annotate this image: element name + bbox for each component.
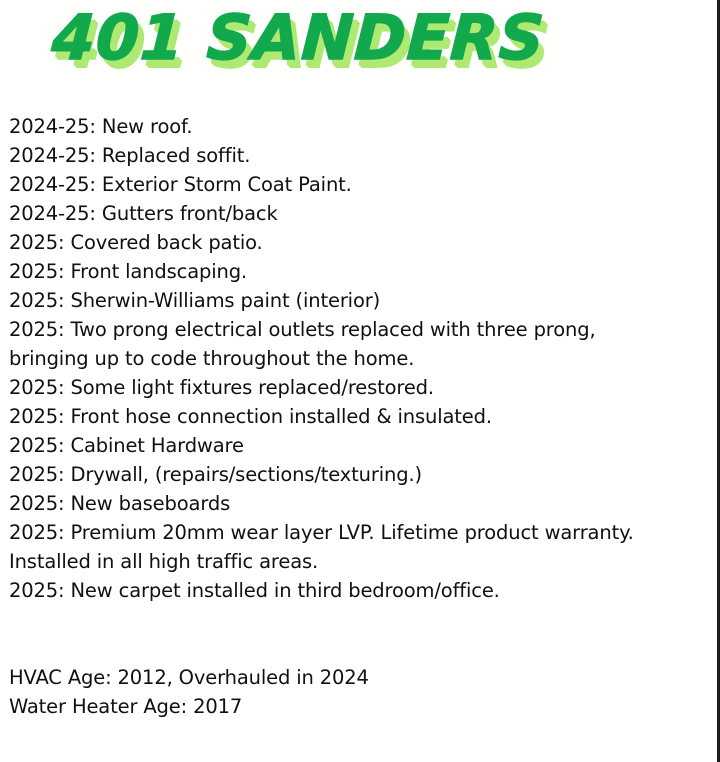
- property-improvements-flyer: 401 SANDERS 2024-25: New roof. 2024-25: …: [0, 0, 720, 762]
- list-item: 2024-25: Gutters front/back: [9, 199, 679, 228]
- list-item: 2024-25: New roof.: [9, 112, 679, 141]
- list-item: 2025: Premium 20mm wear layer LVP. Lifet…: [9, 518, 679, 576]
- list-item: 2025: New carpet installed in third bedr…: [9, 576, 679, 605]
- list-item: 2025: Covered back patio.: [9, 228, 679, 257]
- hvac-age-line: HVAC Age: 2012, Overhauled in 2024: [9, 663, 679, 692]
- section-spacer: [9, 605, 679, 663]
- list-item: 2024-25: Replaced soffit.: [9, 141, 679, 170]
- list-item: 2025: Two prong electrical outlets repla…: [9, 315, 679, 373]
- water-heater-age-line: Water Heater Age: 2017: [9, 692, 679, 721]
- improvements-list: 2024-25: New roof. 2024-25: Replaced sof…: [9, 112, 679, 721]
- list-item: 2025: Cabinet Hardware: [9, 431, 679, 460]
- list-item: 2025: Some light fixtures replaced/resto…: [9, 373, 679, 402]
- list-item: 2025: Front landscaping.: [9, 257, 679, 286]
- list-item: 2025: Sherwin-Williams paint (interior): [9, 286, 679, 315]
- list-item: 2025: New baseboards: [9, 489, 679, 518]
- page-title: 401 SANDERS: [50, 2, 547, 74]
- list-item: 2025: Drywall, (repairs/sections/texturi…: [9, 460, 679, 489]
- title-block: 401 SANDERS: [0, 0, 720, 98]
- list-item: 2024-25: Exterior Storm Coat Paint.: [9, 170, 679, 199]
- list-item: 2025: Front hose connection installed & …: [9, 402, 679, 431]
